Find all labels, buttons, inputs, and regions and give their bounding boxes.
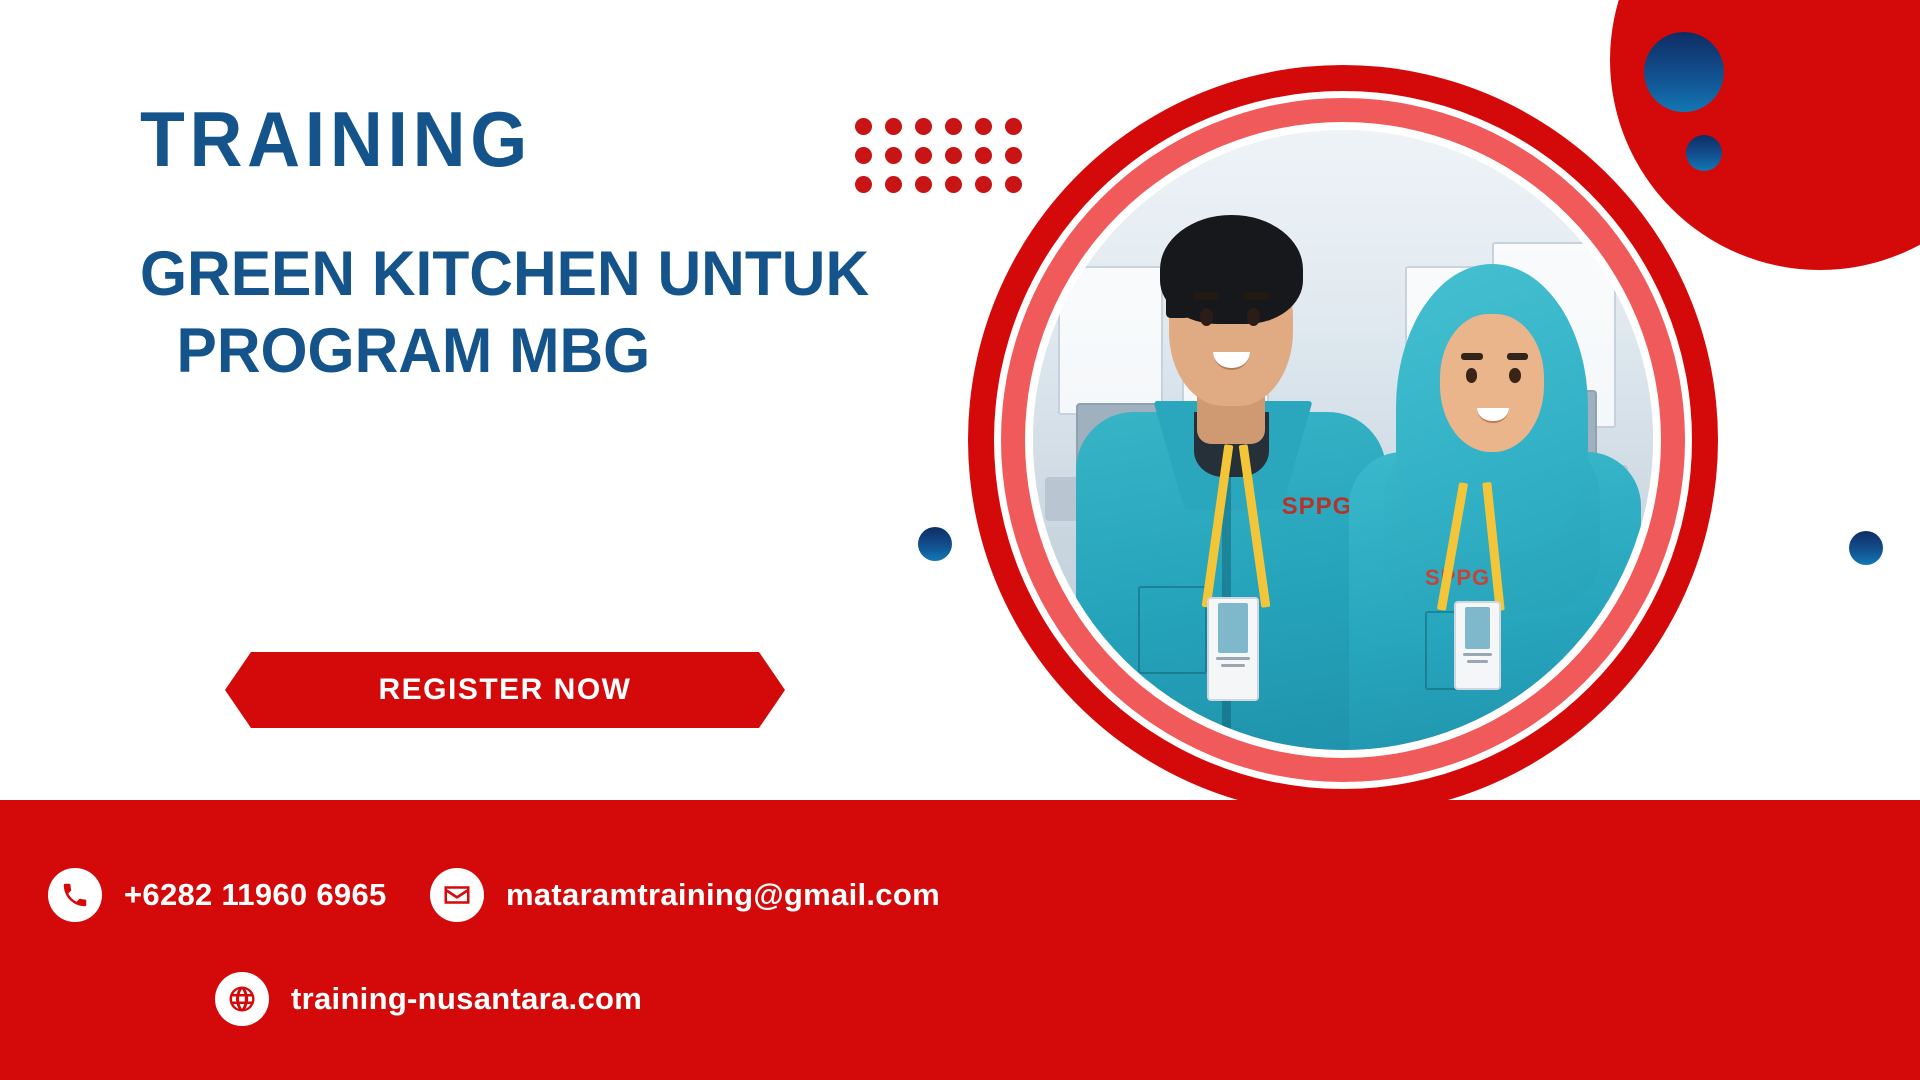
contact-item-website[interactable]: training-nusantara.com [215, 972, 642, 1026]
phone-icon [48, 868, 102, 922]
register-now-button[interactable]: REGISTER NOW [225, 652, 785, 728]
blue-circle-small-decoration [1686, 135, 1722, 171]
grid-dot [1005, 147, 1022, 164]
page-title-line-2: PROGRAM MBG [176, 313, 908, 390]
hero-photo-frame: SPPG SPPG [968, 65, 1718, 815]
frame-white-ring-outer: SPPG SPPG [994, 91, 1692, 789]
page-eyebrow-title: TRAINING [140, 100, 930, 178]
envelope-icon [430, 868, 484, 922]
contact-item-email[interactable]: mataramtraining@gmail.com [430, 868, 940, 922]
website-url-text: training-nusantara.com [291, 981, 642, 1017]
phone-number-text: +6282 11960 6965 [124, 877, 387, 913]
contact-bar: +6282 11960 6965 mataramtraining@gmail.c… [0, 800, 1920, 1080]
id-badge-female [1454, 601, 1501, 690]
uniform-badge-text-female: SPPG [1425, 565, 1490, 591]
email-address-text: mataramtraining@gmail.com [506, 877, 940, 913]
page-title: GREEN KITCHEN UNTUK PROGRAM MBG [140, 236, 908, 390]
id-badge-male [1207, 597, 1260, 701]
page-title-line-1: GREEN KITCHEN UNTUK [140, 236, 908, 313]
hero-photo: SPPG SPPG [1033, 130, 1653, 750]
blue-circle-large-decoration [1644, 32, 1724, 112]
globe-icon [215, 972, 269, 1026]
frame-light-red-ring: SPPG SPPG [1001, 98, 1685, 782]
contact-item-phone[interactable]: +6282 11960 6965 [48, 868, 387, 922]
grid-dot [1005, 118, 1022, 135]
uniform-badge-text-male: SPPG [1282, 493, 1353, 521]
corner-red-circle-decoration [1610, 0, 1920, 270]
frame-white-ring-inner: SPPG SPPG [1025, 122, 1661, 758]
grid-dot [1005, 176, 1022, 193]
person-female-illustration: SPPG [1349, 254, 1640, 750]
blue-dot-right-decoration [1849, 531, 1883, 565]
person-male-illustration: SPPG [1076, 204, 1386, 750]
